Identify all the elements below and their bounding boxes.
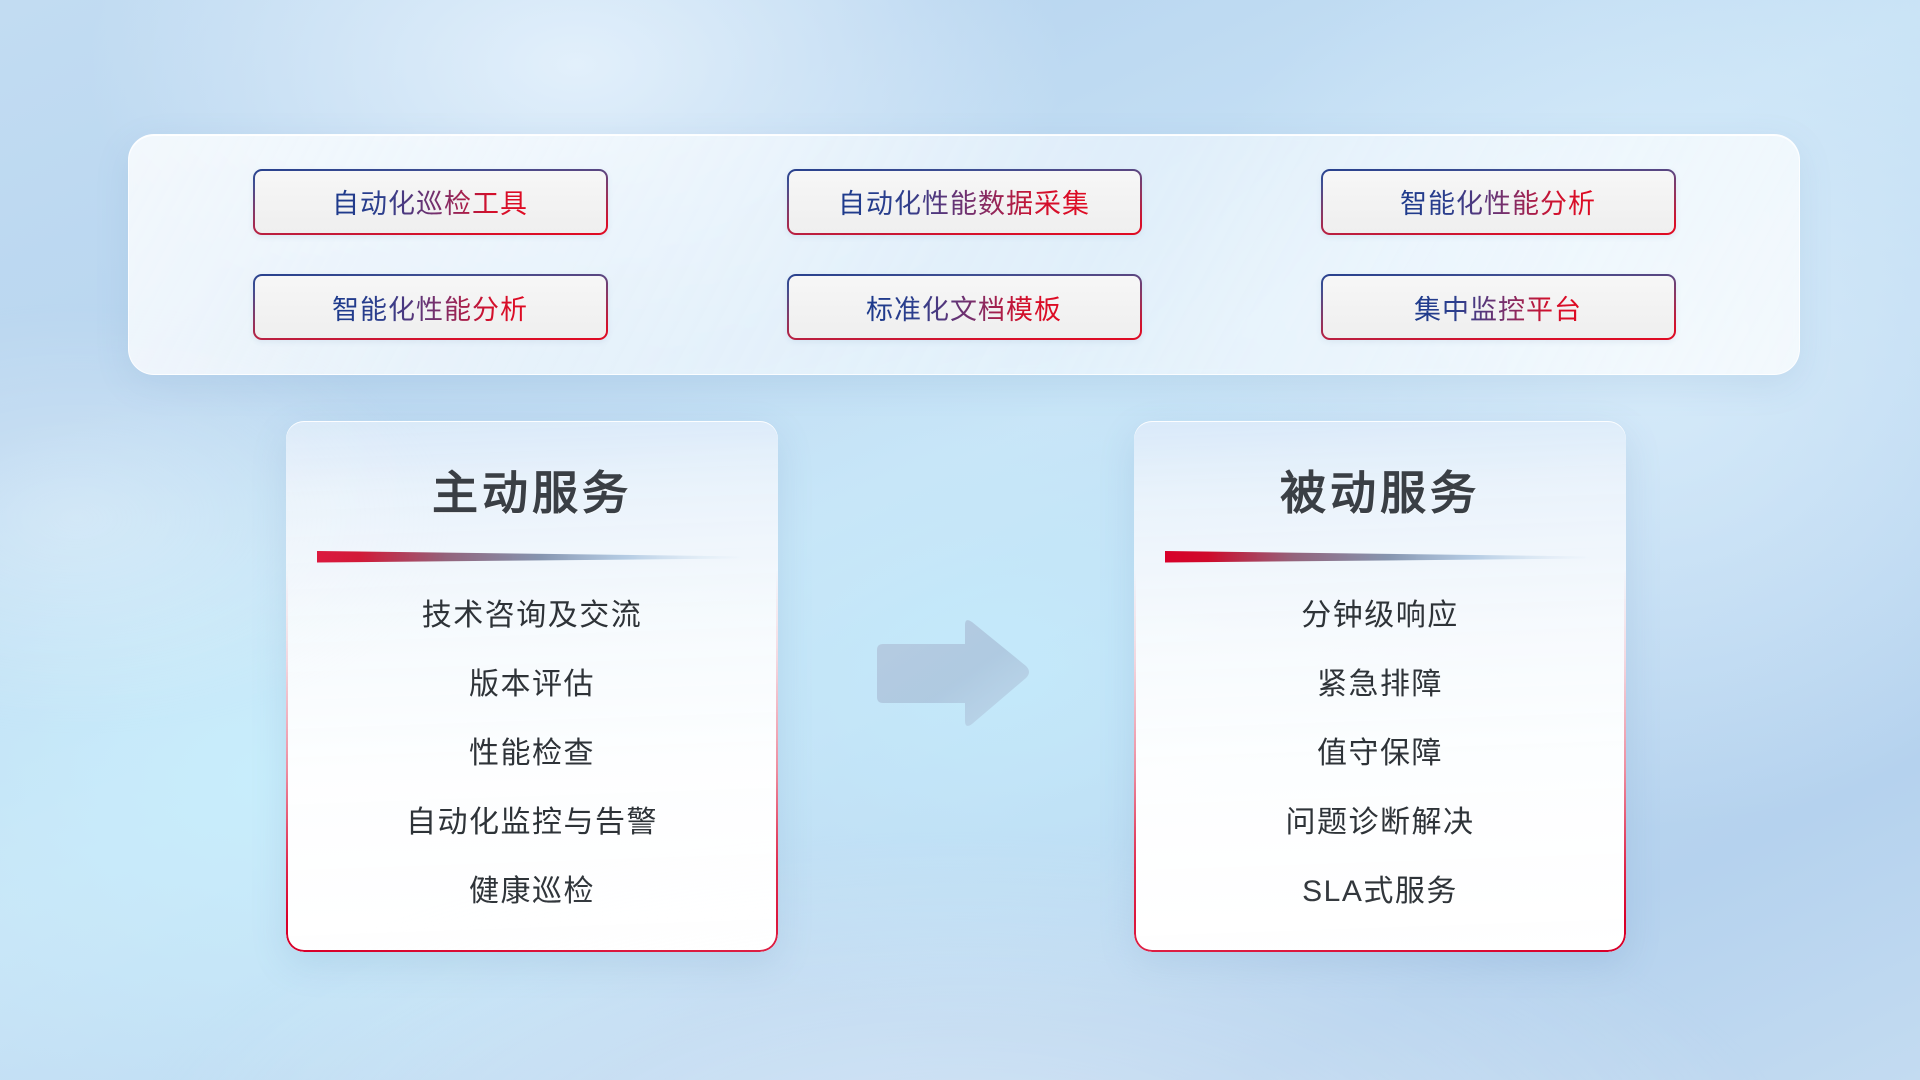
service-list-item: 性能检查 (469, 728, 595, 772)
service-list-item: 健康巡检 (469, 866, 595, 910)
capability-pill-label: 集中监控平台 (1414, 288, 1582, 327)
service-list-item: 技术咨询及交流 (422, 590, 643, 634)
capability-pill[interactable]: 集中监控平台 (1321, 274, 1676, 340)
capability-pill-inner: 智能化性能分析 (255, 276, 606, 338)
service-item-list: 技术咨询及交流 版本评估 性能检查 自动化监控与告警 健康巡检 (286, 590, 778, 910)
slide-canvas: 自动化巡检工具 自动化性能数据采集 智能化性能分析 智能化性能分析 (0, 0, 1920, 1080)
capability-pill[interactable]: 智能化性能分析 (253, 274, 608, 340)
capability-pill[interactable]: 标准化文档模板 (787, 274, 1142, 340)
service-list-item: 自动化监控与告警 (406, 797, 658, 841)
capability-pill-inner: 标准化文档模板 (789, 276, 1140, 338)
service-list-item: 值守保障 (1317, 728, 1443, 772)
service-item-list: 分钟级响应 紧急排障 值守保障 问题诊断解决 SLA式服务 (1134, 590, 1626, 910)
capability-pill-label: 自动化巡检工具 (332, 182, 528, 221)
capability-pill-inner: 集中监控平台 (1323, 276, 1674, 338)
capability-pill-inner: 智能化性能分析 (1323, 171, 1674, 233)
title-divider (317, 550, 747, 563)
capability-pill[interactable]: 自动化性能数据采集 (787, 169, 1142, 235)
capabilities-panel: 自动化巡检工具 自动化性能数据采集 智能化性能分析 智能化性能分析 (128, 134, 1800, 375)
service-card-title: 主动服务 (286, 457, 778, 523)
flow-arrow-right-icon (869, 614, 1034, 734)
service-list-item: SLA式服务 (1302, 866, 1458, 910)
service-list-item: 版本评估 (469, 659, 595, 703)
service-card-proactive[interactable]: 主动服务 技术咨询及交流 版本评估 性能检查 (286, 421, 778, 952)
capability-pill-inner: 自动化性能数据采集 (789, 171, 1140, 233)
title-divider (1165, 550, 1595, 563)
service-list-item: 问题诊断解决 (1286, 797, 1475, 841)
capability-pill-grid: 自动化巡检工具 自动化性能数据采集 智能化性能分析 智能化性能分析 (129, 135, 1799, 374)
service-card-reactive[interactable]: 被动服务 分钟级响应 紧急排障 值守保障 (1134, 421, 1626, 952)
capability-pill-inner: 自动化巡检工具 (255, 171, 606, 233)
capability-pill[interactable]: 智能化性能分析 (1321, 169, 1676, 235)
service-list-item: 分钟级响应 (1301, 590, 1459, 634)
capability-pill-label: 标准化文档模板 (866, 288, 1062, 327)
capability-pill-label: 智能化性能分析 (332, 288, 528, 327)
capability-pill-label: 智能化性能分析 (1400, 182, 1596, 221)
capability-pill[interactable]: 自动化巡检工具 (253, 169, 608, 235)
service-card-title: 被动服务 (1134, 457, 1626, 523)
service-list-item: 紧急排障 (1317, 659, 1443, 703)
capability-pill-label: 自动化性能数据采集 (838, 182, 1090, 221)
